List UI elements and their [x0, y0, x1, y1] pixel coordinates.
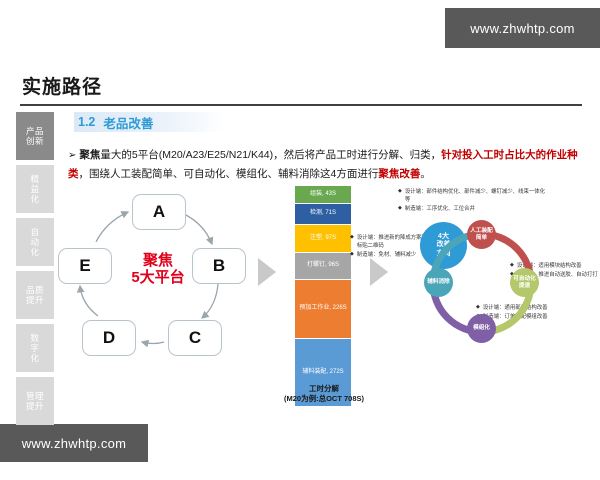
cycle-center-label: 聚焦 5大平台 — [110, 252, 206, 287]
sidebar-item-label: 精 — [30, 174, 39, 184]
page-title: 实施路径 — [22, 72, 102, 99]
bar-segment-label: 检测, 71S — [310, 210, 336, 218]
bullet-text: 制造端：工序优化、工位合并 — [405, 205, 548, 213]
watermark-top: www.zhwhtp.com — [445, 8, 600, 48]
cycle-node-d[interactable]: D — [82, 320, 136, 356]
diamond-bullet-icon: ◆ — [350, 251, 354, 258]
cycle-node-e[interactable]: E — [58, 248, 112, 284]
cycle-node-a[interactable]: A — [132, 194, 186, 230]
bullet-group-top: ◆ 设计端：部件结构优化、部件减少、螺钉减少、线束一体化等 ◆ 制造端：工序优化… — [398, 188, 548, 214]
sidebar-item-management[interactable]: 管理 提升 — [16, 377, 54, 425]
cycle-center-line1: 聚焦 — [110, 252, 206, 269]
chart-subtitle: (M20为例:总OCT 708S) — [263, 394, 385, 404]
four-directions-wheel: 人工装配简单 可自动化提速 模组化 辅料消除 4大 改善 方向 — [420, 222, 544, 344]
wheel-node-modularization[interactable]: 模组化 — [467, 314, 496, 343]
sidebar: 产品 创新 精 益 化 自 动 化 品质 提升 数 字 化 管理 提升 — [16, 112, 54, 430]
bullet-text: 设计端：部件结构优化、部件减少、螺钉减少、线束一体化等 — [405, 188, 548, 204]
chart-title: 工时分解 — [263, 384, 385, 394]
cycle-node-c[interactable]: C — [168, 320, 222, 356]
sidebar-item-label: 字 — [30, 343, 39, 353]
sidebar-item-label: 化 — [30, 247, 39, 257]
sidebar-item-label: 品质 — [26, 285, 44, 295]
wheel-node-manual-assembly[interactable]: 人工装配简单 — [467, 220, 496, 249]
list-item: ◆ 制造端：工序优化、工位合并 — [398, 205, 548, 213]
sidebar-item-label: 数 — [30, 333, 39, 343]
bar-segment-label: 预加工作业, 226S — [299, 305, 346, 313]
sidebar-item-label: 创新 — [26, 136, 44, 146]
bar-segment-label: 打螺钉, 96S — [307, 262, 339, 270]
sidebar-item-label: 管理 — [26, 391, 44, 401]
list-item: ◆ 设计端：部件结构优化、部件减少、螺钉减少、线束一体化等 — [398, 188, 548, 204]
bar-segment: 预加工作业, 226S — [295, 280, 351, 339]
slide-canvas: www.zhwhtp.com www.zhwhtp.com 实施路径 产品 创新… — [0, 0, 600, 480]
bar-segment: 组装, 43S — [295, 186, 351, 204]
sidebar-item-label: 益 — [30, 184, 39, 194]
title-divider — [20, 104, 582, 106]
work-hour-breakdown-chart: 组装, 43S 检测, 71S 注塑, 97S 打螺钉, 96S 预加工作业, … — [295, 186, 357, 406]
chart-caption: 工时分解 (M20为例:总OCT 708S) — [263, 384, 385, 404]
bar-segment-label: 辅料装配, 272S — [302, 369, 343, 377]
bar-segment: 打螺钉, 96S — [295, 253, 351, 280]
sidebar-item-automation[interactable]: 自 动 化 — [16, 218, 54, 266]
section-number: 1.2 — [78, 115, 95, 129]
wheel-node-material-removal[interactable]: 辅料消除 — [424, 268, 453, 297]
diamond-bullet-icon: ◆ — [350, 234, 354, 241]
sidebar-item-lean[interactable]: 精 益 化 — [16, 165, 54, 213]
sidebar-item-label: 提升 — [26, 295, 44, 305]
paragraph-end: 。 — [420, 168, 431, 180]
section-title: 老品改善 — [103, 113, 153, 132]
sidebar-item-label: 化 — [30, 353, 39, 363]
paragraph-part2: ，围绕人工装配简单、可自动化、模组化、辅料消除这4方面进行 — [79, 168, 379, 180]
sidebar-item-label: 自 — [30, 227, 39, 237]
body-paragraph: ➢聚焦量大的5平台(M20/A23/E25/N21/K44)，然后将产品工时进行… — [68, 146, 584, 183]
improvement-directions-panel: ◆ 设计端：部件结构优化、部件减少、螺钉减少、线束一体化等 ◆ 制造端：工序优化… — [392, 186, 600, 386]
diamond-bullet-icon: ◆ — [398, 188, 402, 195]
bar-segment: 检测, 71S — [295, 204, 351, 225]
sidebar-item-digitalization[interactable]: 数 字 化 — [16, 324, 54, 372]
bar-segment-label: 注塑, 97S — [310, 235, 336, 243]
cycle-center-line2: 5大平台 — [110, 269, 206, 286]
sidebar-item-quality[interactable]: 品质 提升 — [16, 271, 54, 319]
sidebar-item-label: 提升 — [26, 401, 44, 411]
paragraph-lead: 聚焦 — [79, 149, 100, 161]
sidebar-item-label: 动 — [30, 237, 39, 247]
chevron-arrow-1-icon — [258, 258, 276, 286]
wheel-node-automation[interactable]: 可自动化提速 — [510, 268, 539, 297]
bar-segment-label: 组装, 43S — [310, 191, 336, 199]
section-subtitle: 1.2 老品改善 — [78, 112, 153, 132]
paragraph-highlight-2: 聚焦改善 — [378, 168, 420, 180]
diamond-bullet-icon: ◆ — [398, 205, 402, 212]
sidebar-item-label: 化 — [30, 194, 39, 204]
platform-cycle-diagram: A B C D E 聚焦 5大平台 — [58, 190, 258, 375]
bullet-arrow-icon: ➢ — [68, 150, 76, 161]
chevron-arrow-2-icon — [370, 258, 388, 286]
sidebar-item-product-innovation[interactable]: 产品 创新 — [16, 112, 54, 160]
paragraph-part1: 量大的5平台(M20/A23/E25/N21/K44)，然后将产品工时进行分解、… — [100, 149, 441, 161]
bar-segment: 注塑, 97S — [295, 225, 351, 253]
sidebar-item-label: 产品 — [26, 126, 44, 136]
stacked-bar: 组装, 43S 检测, 71S 注塑, 97S 打螺钉, 96S 预加工作业, … — [295, 186, 351, 406]
